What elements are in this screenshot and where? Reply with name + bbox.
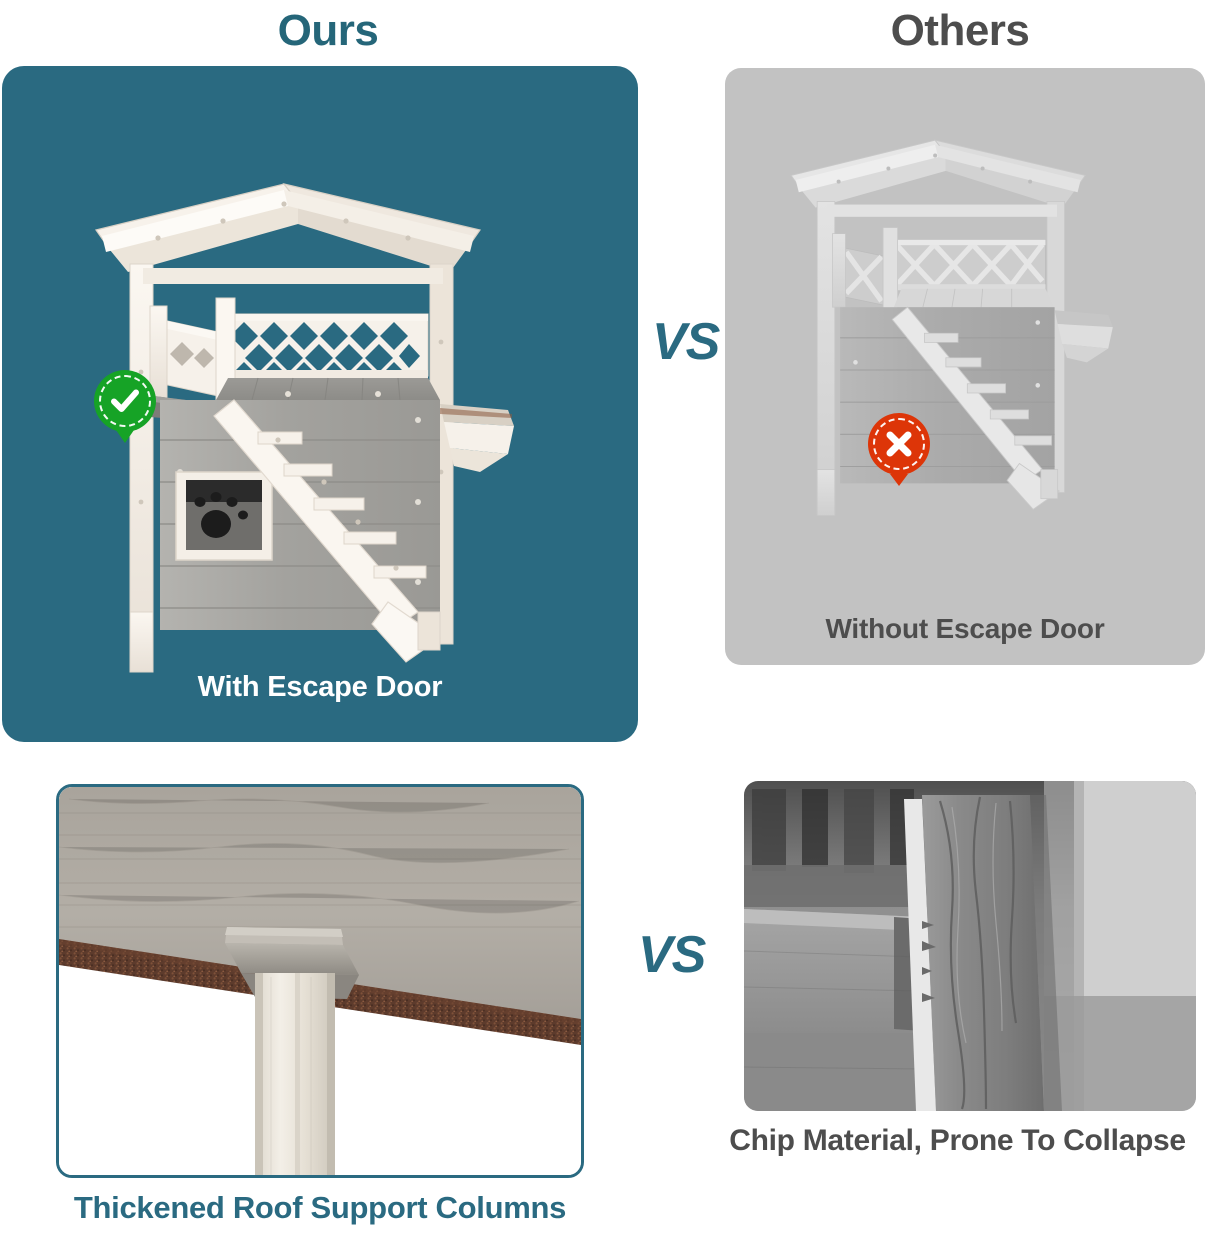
caption-ours-escape-door: With Escape Door (2, 671, 638, 704)
headings-row: Ours Others (0, 0, 1214, 62)
panel-ours-roof-support (56, 784, 584, 1178)
heading-others: Others (780, 2, 1140, 60)
detail-image-ours-roof-column (59, 787, 581, 1175)
check-badge-icon (94, 370, 156, 432)
caption-others-chip-material: Chip Material, Prone To Collapse (700, 1124, 1214, 1158)
vs-label-bottom: VS (638, 925, 705, 985)
panel-others-chip-material (744, 781, 1196, 1111)
heading-ours: Ours (148, 2, 508, 60)
panel-ours-escape-door: With Escape Door (2, 66, 638, 742)
product-image-ours-cat-house (88, 172, 558, 702)
caption-ours-roof-support: Thickened Roof Support Columns (40, 1190, 600, 1226)
caption-others-escape-door: Without Escape Door (725, 613, 1205, 645)
product-image-others-cat-house (785, 124, 1145, 544)
cross-badge-icon (868, 413, 930, 475)
panel-others-escape-door: Without Escape Door (725, 68, 1205, 665)
detail-image-others-chipped-post (744, 781, 1196, 1111)
vs-label-top: VS (652, 312, 719, 372)
